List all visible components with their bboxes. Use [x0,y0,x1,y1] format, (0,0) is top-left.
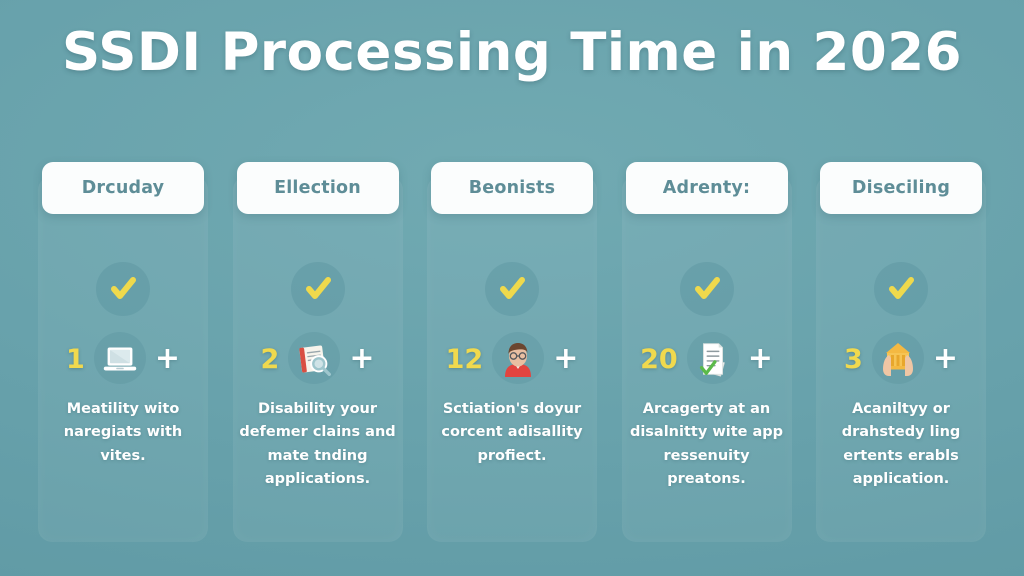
person-avatar-icon [489,330,547,388]
plus-icon: + [553,344,578,374]
stat-number: 2 [261,346,280,373]
stat-row: 12 + [423,328,601,390]
plus-icon: + [155,344,180,374]
document-magnifier-icon [285,330,343,388]
document-checklist-icon [684,330,742,388]
check-icon [680,262,734,316]
column-header-label: Diseciling [852,178,950,198]
check-icon [96,262,150,316]
column-body-text: Sctiation's doyur corcent adisallity pro… [433,398,591,468]
plus-icon: + [933,344,958,374]
column-header-pill[interactable]: Adrenty: [626,162,788,214]
stat-row: 3 + [812,328,990,390]
stat-row: 20 [618,328,796,390]
plus-icon: + [349,344,374,374]
column-header-label: Drcuday [82,178,165,198]
column-header-pill[interactable]: Beonists [431,162,593,214]
stat-row: 1 + [34,328,212,390]
info-column[interactable]: Drcuday 1 + [34,150,212,546]
info-column[interactable]: Diseciling 3 [812,150,990,546]
check-icon [291,262,345,316]
stat-number: 20 [640,346,678,373]
check-icon [485,262,539,316]
column-group: Drcuday 1 + [34,150,990,546]
column-header-pill[interactable]: Diseciling [820,162,982,214]
check-icon [874,262,928,316]
column-body-text: Acaniltyy or drahstedy ling ertents erab… [822,398,980,492]
laptop-icon [91,330,149,388]
stat-number: 12 [446,346,484,373]
stat-number: 3 [844,346,863,373]
column-header-label: Adrenty: [663,178,750,198]
stat-number: 1 [66,346,85,373]
column-header-label: Beonists [469,178,556,198]
info-column[interactable]: Adrenty: 20 [618,150,796,546]
column-header-label: Ellection [274,178,361,198]
title-container: SSDI Processing Time in 2026 [0,22,1024,83]
plus-icon: + [748,344,773,374]
info-column[interactable]: Ellection 2 [229,150,407,546]
stat-row: 2 + [229,328,407,390]
column-header-pill[interactable]: Drcuday [42,162,204,214]
page-title: SSDI Processing Time in 2026 [62,22,962,83]
hands-holding-building-icon [869,330,927,388]
infographic-canvas: SSDI Processing Time in 2026 Drcuday 1 [0,0,1024,576]
column-body-text: Meatility wito naregiats with vites. [44,398,202,468]
column-body-text: Disability your defemer clains and mate … [239,398,397,492]
column-body-text: Arcagerty at an disalnitty wite app ress… [628,398,786,492]
column-header-pill[interactable]: Ellection [237,162,399,214]
info-column[interactable]: Beonists 12 [423,150,601,546]
